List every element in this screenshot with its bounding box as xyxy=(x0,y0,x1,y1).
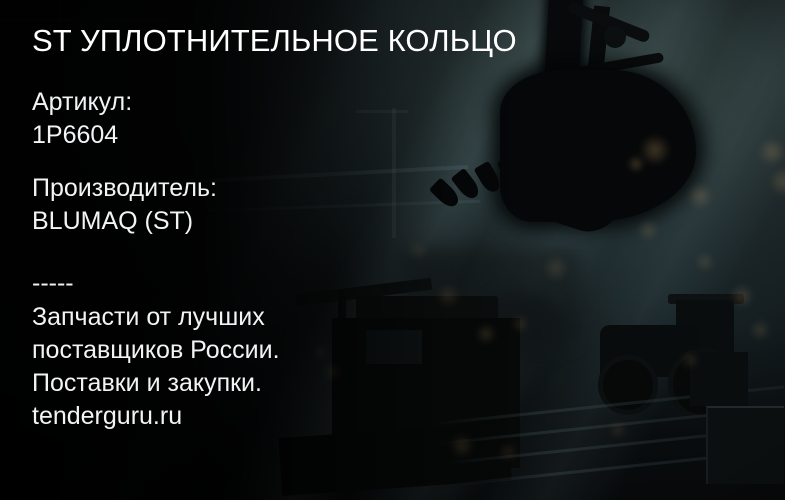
page-title: ST УПЛОТНИТЕЛЬНОЕ КОЛЬЦО xyxy=(32,23,517,59)
product-banner: ST УПЛОТНИТЕЛЬНОЕ КОЛЬЦО Артикул: 1P6604… xyxy=(0,0,785,500)
tractor-canopy xyxy=(668,294,744,304)
promo-block: ----- Запчасти от лучших поставщиков Рос… xyxy=(32,268,280,433)
bokeh-light xyxy=(749,319,771,341)
excavator-pin-lower xyxy=(636,80,656,100)
tractor-rear-wheel xyxy=(668,348,740,420)
article-label: Артикул: xyxy=(32,86,132,119)
text-content: ST УПЛОТНИТЕЛЬНОЕ КОЛЬЦО Артикул: 1P6604… xyxy=(32,0,592,500)
promo-line-3: Поставки и закупки. xyxy=(32,367,280,400)
separator-dashes: ----- xyxy=(32,268,280,298)
tractor-front-wheel xyxy=(598,355,658,415)
manufacturer-label: Производитель: xyxy=(32,172,217,205)
bokeh-light xyxy=(695,252,715,272)
bokeh-light xyxy=(758,138,785,166)
tractor-body xyxy=(600,325,700,377)
excavator-pin-upper xyxy=(604,26,626,48)
manufacturer-value: BLUMAQ (ST) xyxy=(32,205,217,238)
bokeh-light xyxy=(637,219,659,241)
bokeh-light xyxy=(730,284,754,308)
promo-line-2: поставщиков России. xyxy=(32,334,280,367)
article-value: 1P6604 xyxy=(32,119,132,152)
storage-crate xyxy=(706,406,784,484)
bokeh-light xyxy=(769,167,785,197)
promo-line-1: Запчасти от лучших xyxy=(32,301,280,334)
bokeh-light xyxy=(681,351,699,369)
bokeh-light xyxy=(687,183,713,209)
tractor-cab xyxy=(676,300,734,360)
manufacturer-block: Производитель: BLUMAQ (ST) xyxy=(32,172,217,238)
bokeh-light xyxy=(639,134,671,166)
storage-crate xyxy=(690,352,748,406)
site-url: tenderguru.ru xyxy=(32,400,280,433)
bokeh-light xyxy=(627,155,645,173)
promo-text: Запчасти от лучших поставщиков России. П… xyxy=(32,301,280,433)
bokeh-light xyxy=(609,421,627,439)
article-block: Артикул: 1P6604 xyxy=(32,86,132,152)
